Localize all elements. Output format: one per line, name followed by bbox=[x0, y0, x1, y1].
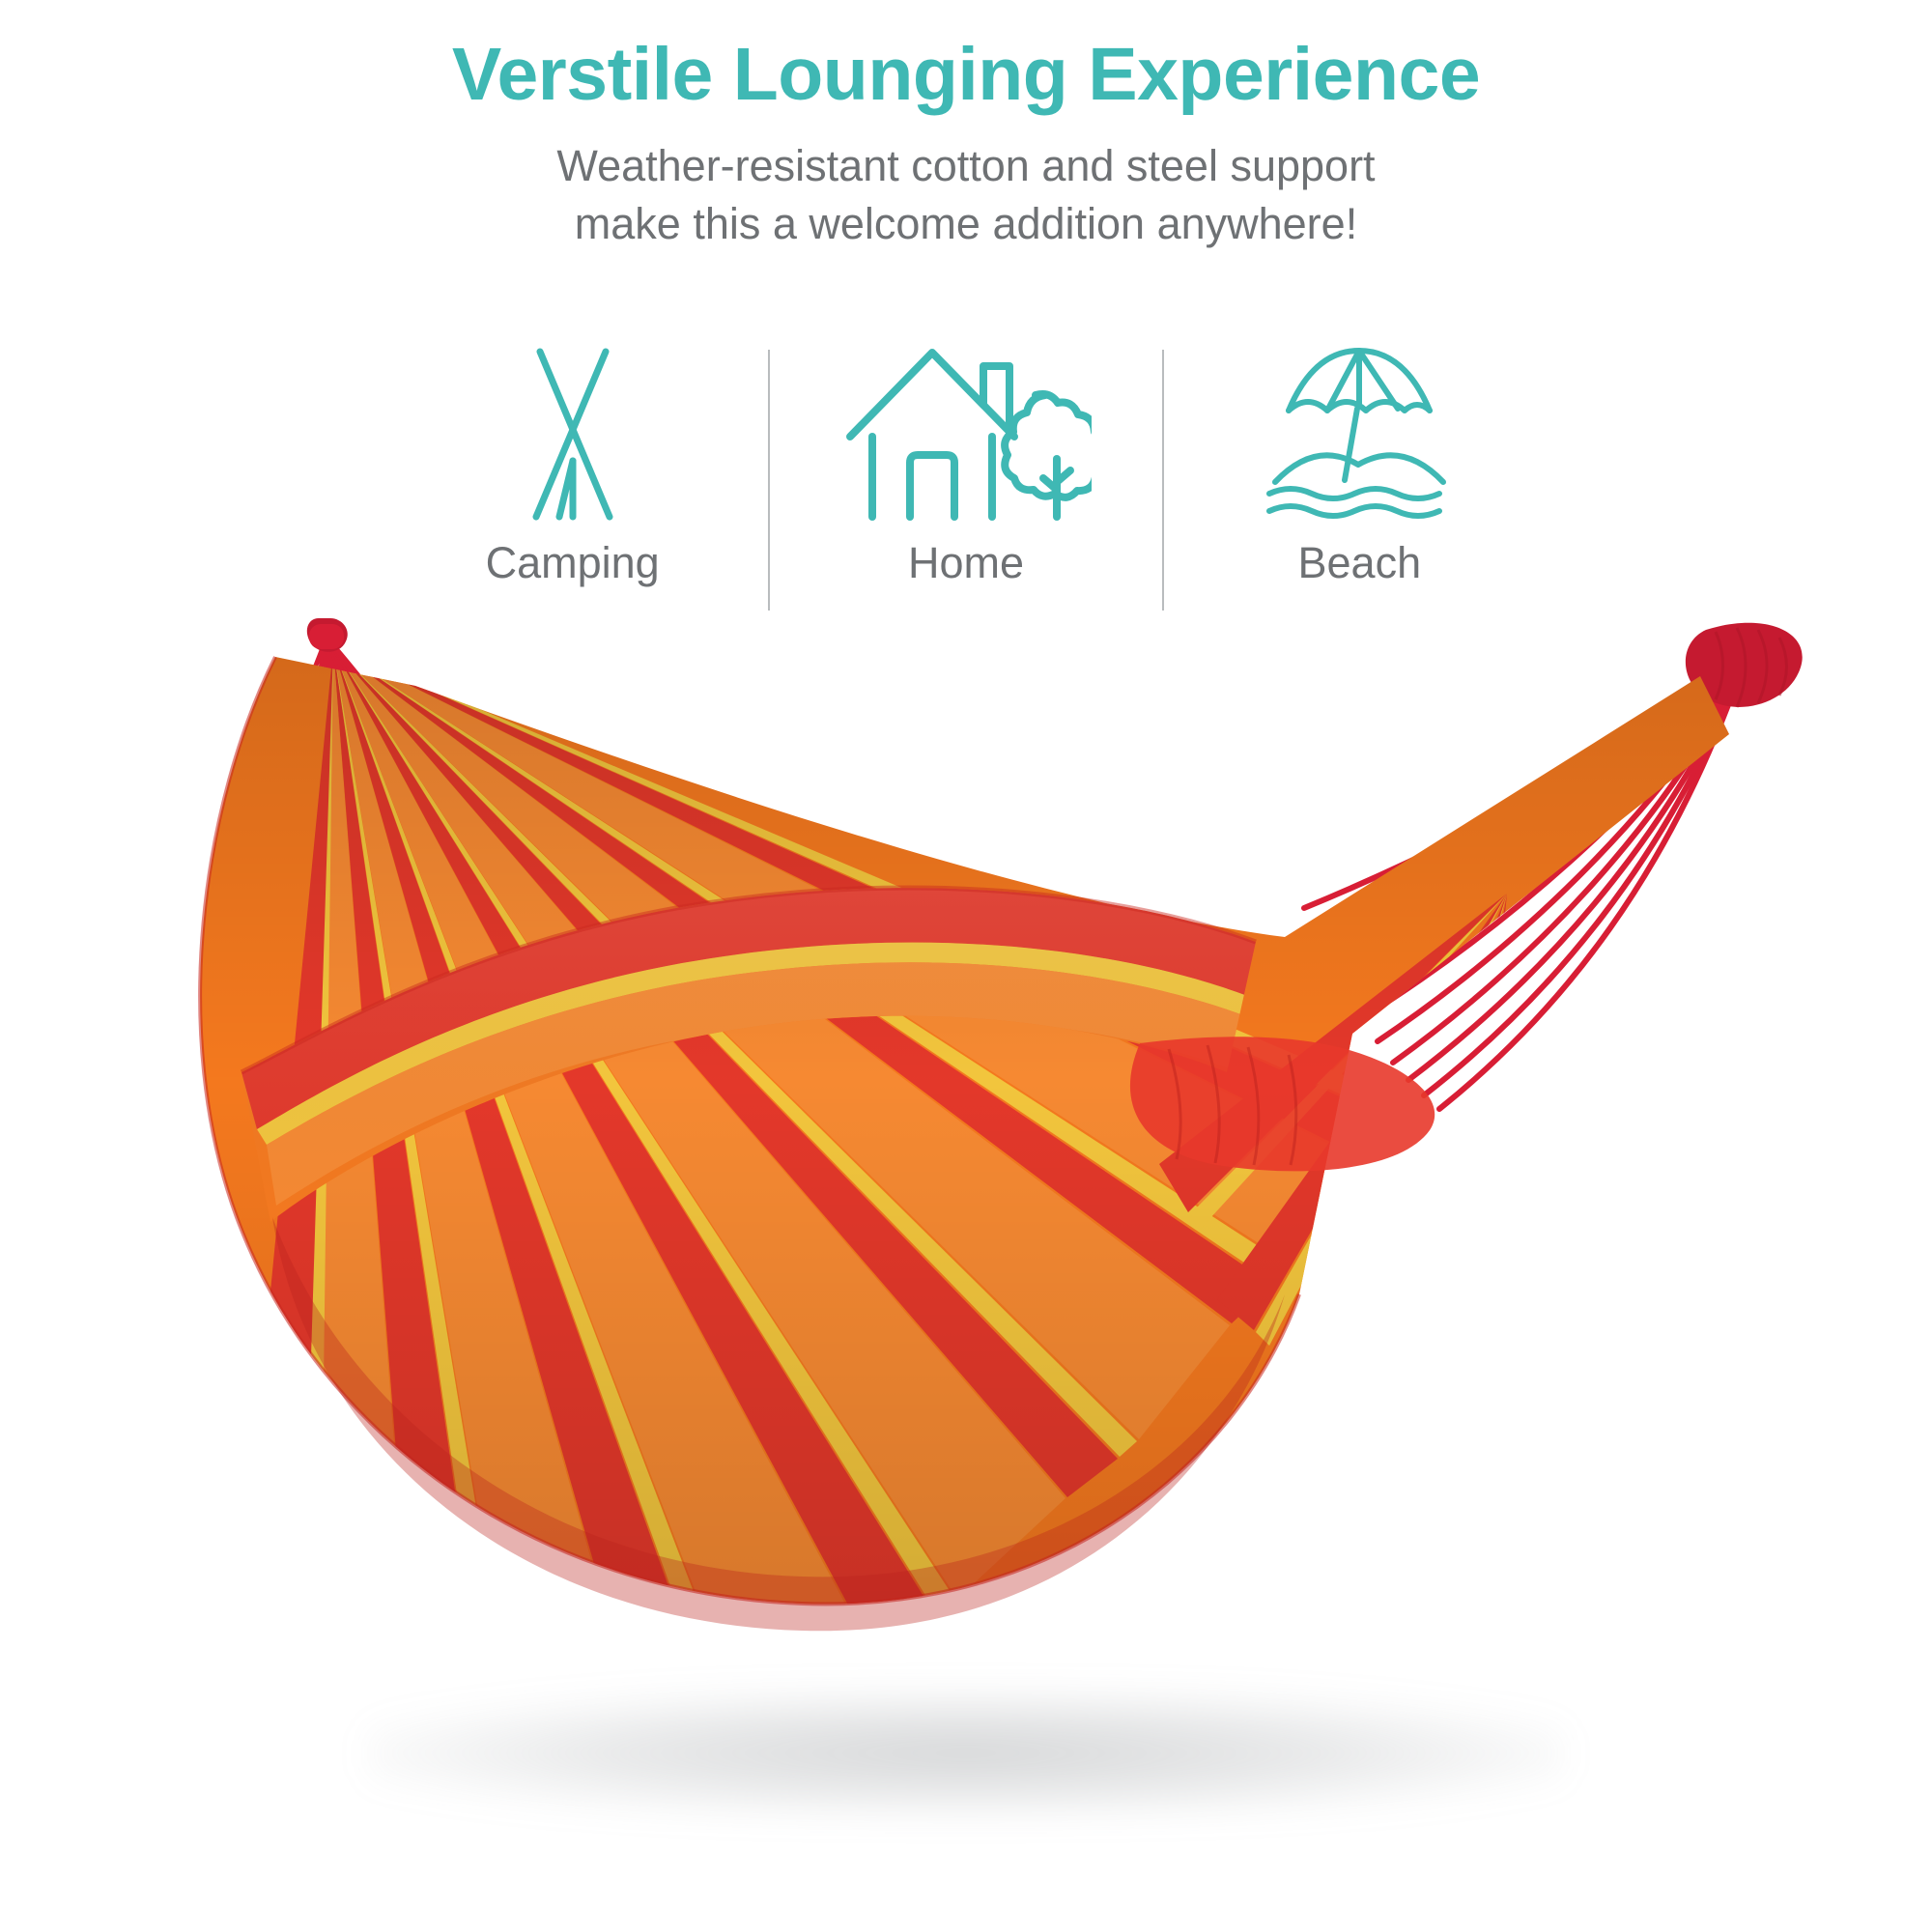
page-title: Verstile Lounging Experience bbox=[0, 0, 1932, 116]
feature-beach: Beach bbox=[1164, 340, 1555, 620]
marketing-page: Verstile Lounging Experience Weather-res… bbox=[0, 0, 1932, 1932]
feature-label-beach: Beach bbox=[1298, 541, 1422, 584]
beach-umbrella-icon bbox=[1258, 340, 1461, 524]
subtitle-line-1: Weather-resistant cotton and steel suppo… bbox=[0, 137, 1932, 195]
product-image-stage bbox=[0, 618, 1932, 1932]
feature-row: Camping bbox=[377, 340, 1555, 620]
house-tree-icon bbox=[840, 340, 1092, 524]
hammock-right-gather bbox=[1130, 1037, 1435, 1171]
header: Verstile Lounging Experience Weather-res… bbox=[0, 0, 1932, 253]
feature-home: Home bbox=[770, 340, 1161, 620]
hammock-illustration bbox=[0, 618, 1932, 1932]
feature-label-home: Home bbox=[908, 541, 1024, 584]
page-subtitle: Weather-resistant cotton and steel suppo… bbox=[0, 116, 1932, 253]
tent-icon bbox=[486, 340, 660, 524]
subtitle-line-2: make this a welcome addition anywhere! bbox=[0, 195, 1932, 253]
feature-camping: Camping bbox=[377, 340, 768, 620]
feature-label-camping: Camping bbox=[486, 541, 660, 584]
